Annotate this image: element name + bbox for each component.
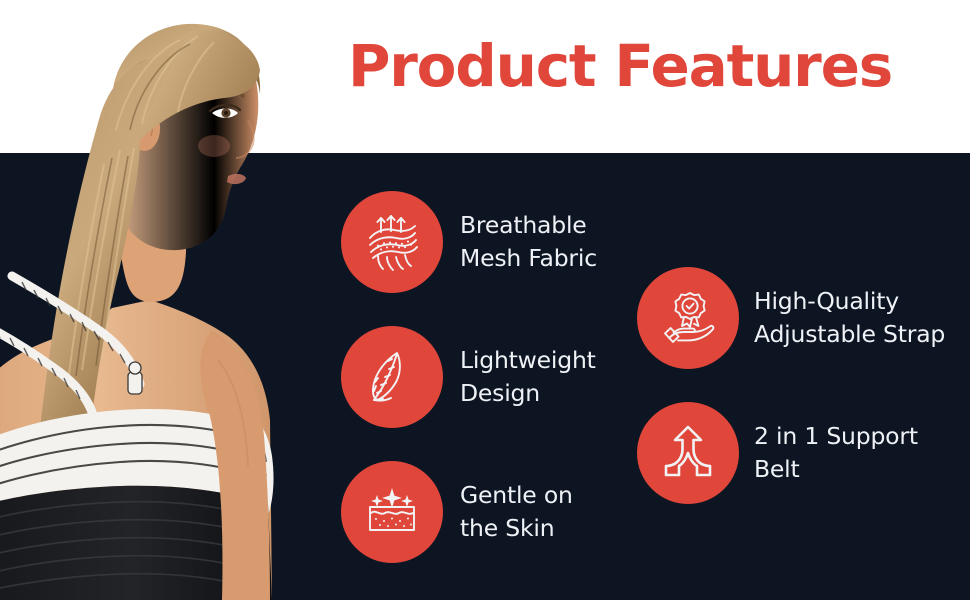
feature-label-line2: Mesh Fabric — [460, 242, 597, 275]
feature-item-high-quality-adjustable-strap[interactable]: High-Quality Adjustable Strap — [637, 267, 970, 369]
feather-icon — [341, 326, 443, 428]
skin-sparkle-icon — [341, 461, 443, 563]
feature-label-line1: Lightweight — [460, 344, 596, 377]
feature-item-2-in-1-support-belt[interactable]: 2 in 1 Support Belt — [637, 402, 970, 504]
feature-label-gentle-on-the-skin: Gentle on the Skin — [460, 479, 573, 546]
feature-label-2-in-1-support-belt: 2 in 1 Support Belt — [754, 420, 918, 487]
feature-label-line2: the Skin — [460, 512, 573, 545]
feature-label-line2: Design — [460, 377, 596, 410]
feature-label-line1: Breathable — [460, 209, 597, 242]
feature-list-right: High-Quality Adjustable Strap 2 in 1 Sup… — [637, 267, 970, 537]
feature-item-gentle-on-the-skin[interactable]: Gentle on the Skin — [341, 461, 621, 563]
feature-label-line1: Gentle on — [460, 479, 573, 512]
feature-item-lightweight-design[interactable]: Lightweight Design — [341, 326, 621, 428]
product-photo — [0, 0, 300, 600]
page-title: Product Features — [310, 36, 930, 97]
feature-label-breathable-mesh-fabric: Breathable Mesh Fabric — [460, 209, 597, 276]
product-features-banner: Product Features — [0, 0, 970, 600]
feature-label-lightweight-design: Lightweight Design — [460, 344, 596, 411]
feature-item-breathable-mesh-fabric[interactable]: Breathable Mesh Fabric — [341, 191, 621, 293]
feature-label-line2: Belt — [754, 453, 918, 486]
feature-label-line1: 2 in 1 Support — [754, 420, 918, 453]
merge-arrow-icon — [637, 402, 739, 504]
feature-label-line1: High-Quality — [754, 285, 945, 318]
feature-label-high-quality-adjustable-strap: High-Quality Adjustable Strap — [754, 285, 945, 352]
feature-label-line2: Adjustable Strap — [754, 318, 945, 351]
feature-list-left: Breathable Mesh Fabric — [341, 191, 621, 596]
quality-badge-hand-icon — [637, 267, 739, 369]
breathable-mesh-icon — [341, 191, 443, 293]
